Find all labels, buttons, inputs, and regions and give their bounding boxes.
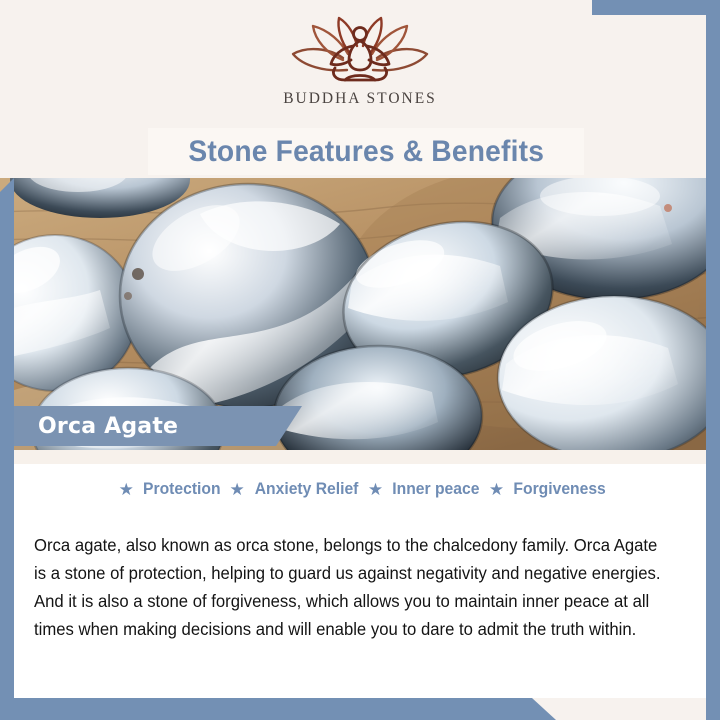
infographic-page: Orca Agate	[0, 0, 720, 720]
stone-description: Orca agate, also known as orca stone, be…	[34, 531, 668, 643]
frame-border-right	[706, 0, 720, 720]
title-banner: Stone Features & Benefits	[148, 128, 584, 175]
star-icon: ★	[489, 481, 504, 498]
page-title: Stone Features & Benefits	[188, 135, 544, 169]
benefit-item: ★ Anxiety Relief	[223, 480, 361, 499]
frame-border-top	[592, 0, 720, 15]
frame-border-bottom	[0, 698, 556, 720]
photo-caption-banner: Orca Agate	[14, 406, 302, 446]
brand-logo: BUDDHA STONES	[0, 14, 720, 122]
content-divider-strip	[14, 450, 706, 464]
benefit-label: Protection	[143, 480, 221, 499]
benefit-item: ★ Forgiveness	[482, 480, 608, 499]
star-icon: ★	[119, 481, 134, 498]
frame-border-left	[0, 178, 14, 698]
star-icon: ★	[230, 481, 245, 498]
photo-caption-label: Orca Agate	[38, 414, 178, 439]
star-icon: ★	[368, 481, 383, 498]
benefit-label: Inner peace	[392, 480, 479, 499]
benefit-label: Anxiety Relief	[254, 480, 358, 499]
benefit-item: ★ Protection	[112, 480, 223, 499]
benefit-label: Forgiveness	[514, 480, 606, 499]
content-panel: ★ Protection ★ Anxiety Relief ★ Inner pe…	[14, 464, 706, 698]
benefit-item: ★ Inner peace	[361, 480, 482, 499]
benefits-list: ★ Protection ★ Anxiety Relief ★ Inner pe…	[14, 480, 706, 499]
lotus-meditation-icon	[285, 14, 435, 88]
brand-name: BUDDHA STONES	[283, 90, 437, 108]
